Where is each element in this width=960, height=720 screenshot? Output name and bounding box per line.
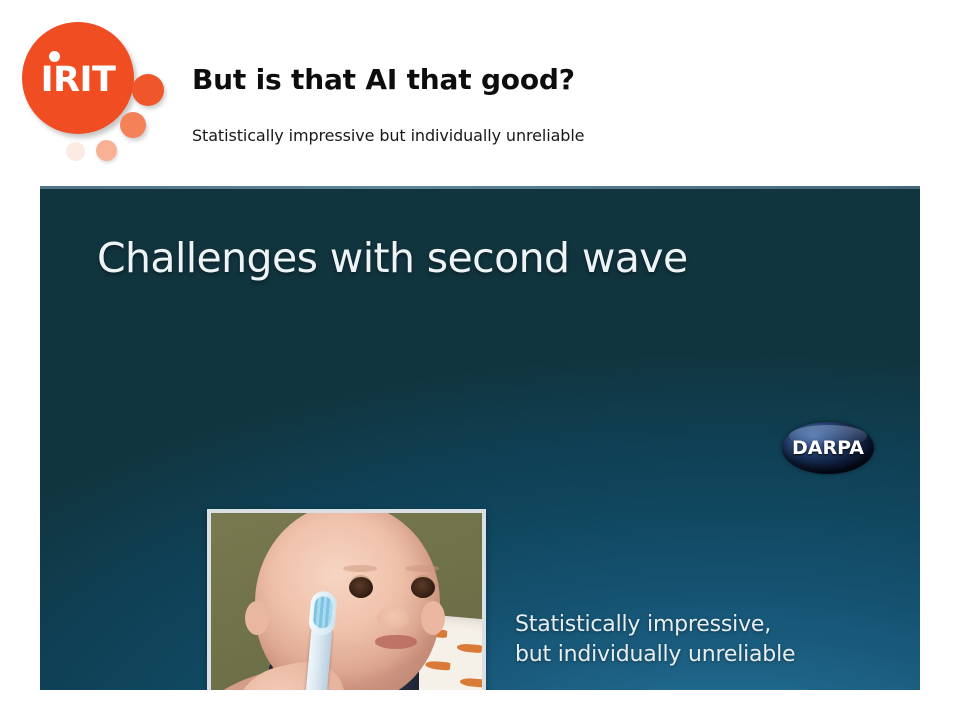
- slide-top-edge: [40, 186, 920, 189]
- darpa-logo-wordmark: DARPA: [782, 422, 874, 474]
- irit-logo-circle: IRIT: [22, 22, 134, 134]
- photo-card: a young boy is holding a baseball bat: [207, 509, 486, 690]
- baby-eye-left: [349, 577, 373, 598]
- slide-statement-line-2: but individually unreliable: [515, 640, 795, 670]
- slide-statement-line-1: Statistically impressive,: [515, 610, 795, 640]
- baby-mouth: [375, 635, 417, 649]
- irit-logo-bubble-2: [120, 112, 146, 138]
- baby-eye-right: [411, 577, 435, 598]
- photo-image: a young boy is holding a baseball bat: [211, 513, 482, 690]
- irit-logo-bubble-1: [132, 74, 164, 106]
- irit-logo: IRIT: [8, 8, 183, 168]
- page-header: IRIT But is that AI that good? Statistic…: [0, 0, 960, 186]
- baby-ear-right: [421, 601, 445, 635]
- page-subtitle: Statistically impressive but individuall…: [192, 126, 584, 145]
- slide-title: Challenges with second wave: [97, 234, 688, 282]
- baby-nose: [377, 607, 409, 629]
- presentation-slide: Challenges with second wave DARPA: [40, 186, 920, 690]
- irit-logo-bubble-3: [96, 140, 117, 161]
- page-title: But is that AI that good?: [192, 63, 575, 96]
- baby-ear-left: [245, 601, 269, 635]
- slide-statement: Statistically impressive, but individual…: [515, 610, 795, 669]
- irit-logo-wordmark: IRIT: [22, 22, 134, 134]
- darpa-logo: DARPA: [782, 422, 874, 474]
- baby-head: [255, 513, 440, 690]
- irit-logo-bubble-4: [66, 142, 85, 161]
